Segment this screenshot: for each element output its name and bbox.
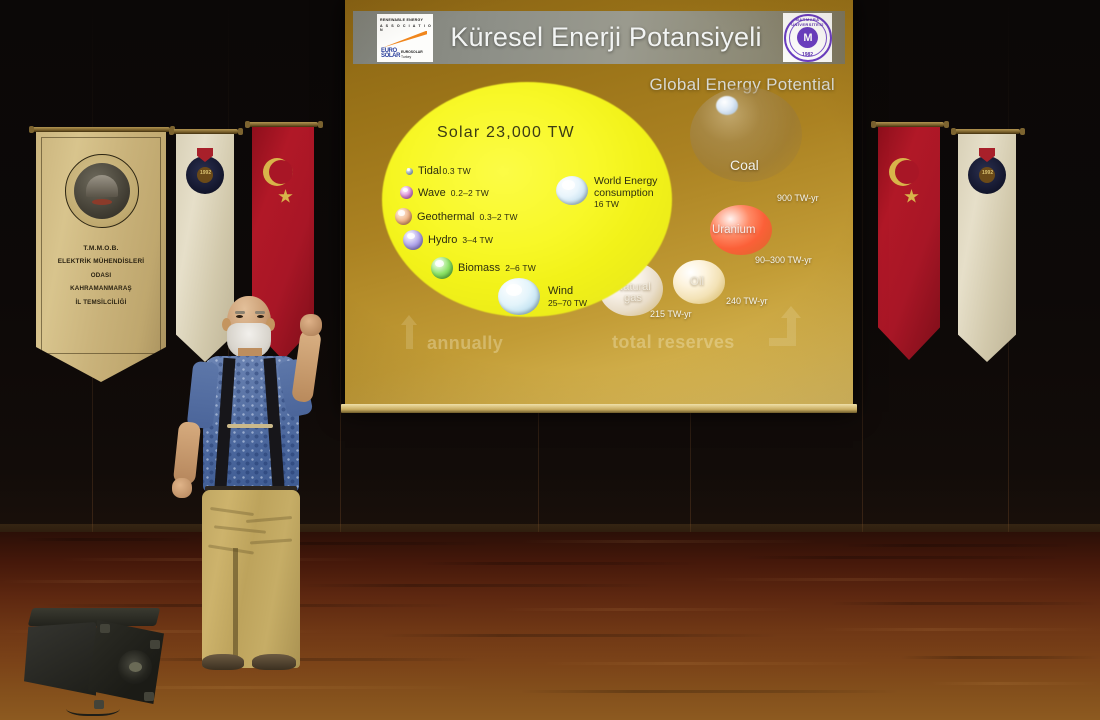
label-tidal: Tidal [418, 165, 441, 177]
banner-tmmob-line5: İL TEMSİLCİLİĞİ [36, 298, 166, 308]
label-geothermal: Geothermal [417, 211, 474, 223]
value-wec: 16 TW [594, 199, 619, 209]
logo-triangle-icon [383, 31, 427, 48]
presenter-hand-left [172, 478, 192, 498]
uni-year-left: 1992 [200, 170, 211, 176]
projection-screen: RENEWABLE ENERGY A S S O C I A T I O N E… [345, 0, 853, 412]
logo-sub1: EUROSOLAR [401, 50, 423, 54]
presenter-shoe-right [252, 654, 296, 670]
value-hydro: 3–4 TW [462, 235, 493, 245]
value-tidal: 0.3 TW [442, 166, 470, 176]
source-world-energy-consumption: World Energy consumption 16 TW [556, 176, 657, 211]
source-tidal: Tidal 0.3 TW [406, 165, 471, 177]
mu-seal-year: 1982 [786, 52, 830, 58]
stage-monitor-speaker [22, 606, 170, 714]
label-wec-line1: World Energy [594, 175, 657, 187]
slide-header-bar: RENEWABLE ENERGY A S S O C I A T I O N E… [353, 11, 845, 64]
slide-title: Küresel Enerji Potansiyeli [433, 22, 783, 53]
speaker-cable [66, 698, 120, 716]
label-uranium: Uranium [712, 224, 755, 236]
label-coal: Coal [730, 157, 759, 173]
star-icon-left [278, 189, 293, 204]
banner-tmmob: T.M.M.O.B. ELEKTRİK MÜHENDİSLERİ ODASI K… [36, 127, 166, 385]
mu-seal-top-text: MARMARA ÜNİVERSİTESİ [786, 17, 830, 27]
bubble-wave [400, 186, 413, 199]
presenter-shoe-left [202, 654, 244, 670]
banner-tmmob-line1: T.M.M.O.B. [36, 244, 166, 254]
label-solar: Solar 23,000 TW [437, 124, 575, 142]
label-biomass: Biomass [458, 262, 500, 274]
label-oil: Oil [690, 276, 704, 288]
bubble-geothermal [395, 208, 412, 225]
value-geothermal: 0.3–2 TW [479, 212, 517, 222]
arrow-up-right-icon [769, 306, 811, 352]
label-natural-gas-line2: gas [624, 292, 642, 304]
logo-line2: A S S O C I A T I O N [380, 24, 433, 32]
stage-scene: T.M.M.O.B. ELEKTRİK MÜHENDİSLERİ ODASI K… [0, 0, 1100, 720]
label-wind: Wind [548, 285, 573, 297]
label-wec-line2: consumption [594, 187, 654, 199]
screen-bottom-bar [341, 404, 857, 413]
label-wave: Wave [418, 187, 446, 199]
renewable-energy-association-logo-icon: RENEWABLE ENERGY A S S O C I A T I O N E… [377, 14, 433, 62]
source-hydro: Hydro 3–4 TW [403, 230, 493, 250]
banner-tmmob-line3: ODASI [36, 271, 166, 281]
bubble-biomass [431, 257, 453, 279]
value-wave: 0.2–2 TW [451, 188, 489, 198]
source-wave: Wave 0.2–2 TW [400, 186, 489, 199]
source-biomass: Biomass 2–6 TW [431, 257, 536, 279]
value-wind: 25–70 TW [548, 298, 587, 308]
amount-oil: 240 TW-yr [726, 296, 768, 306]
label-hydro: Hydro [428, 234, 457, 246]
logo-line1: RENEWABLE ENERGY [380, 18, 423, 22]
amount-coal: 900 TW-yr [777, 193, 819, 203]
amount-natural-gas: 215 TW-yr [650, 309, 692, 319]
source-wind: Wind 25–70 TW [498, 278, 587, 315]
logo-sub2: Turkey [401, 55, 411, 59]
coal-highlight [716, 96, 738, 115]
bubble-wind [498, 278, 540, 315]
bubble-world-energy-consumption [556, 176, 588, 205]
bubble-tidal [406, 168, 413, 175]
star-icon-right [904, 189, 919, 204]
presenter-hand-right-fist [300, 314, 322, 336]
logo-eurosolar-mark: EUROSOLAR [381, 49, 400, 60]
tmmob-seal-icon [65, 154, 139, 228]
banner-university-right: 1992 [958, 129, 1016, 369]
value-biomass: 2–6 TW [505, 263, 536, 273]
marmara-university-logo-icon: MARMARA ÜNİVERSİTESİ M 1982 [783, 13, 832, 62]
arrow-up-left-icon [401, 315, 417, 349]
footer-total-reserves: total reserves [612, 332, 735, 353]
source-geothermal: Geothermal 0.3–2 TW [395, 208, 518, 225]
amount-uranium: 90–300 TW-yr [755, 255, 812, 265]
banner-flag-right [878, 122, 940, 367]
uni-year-right: 1992 [982, 170, 993, 176]
banner-tmmob-line4: KAHRAMANMARAŞ [36, 284, 166, 294]
bubble-hydro [403, 230, 423, 250]
banner-tmmob-line2: ELEKTRİK MÜHENDİSLERİ [36, 257, 166, 267]
presenter [170, 296, 336, 674]
footer-annually: annually [427, 333, 503, 354]
